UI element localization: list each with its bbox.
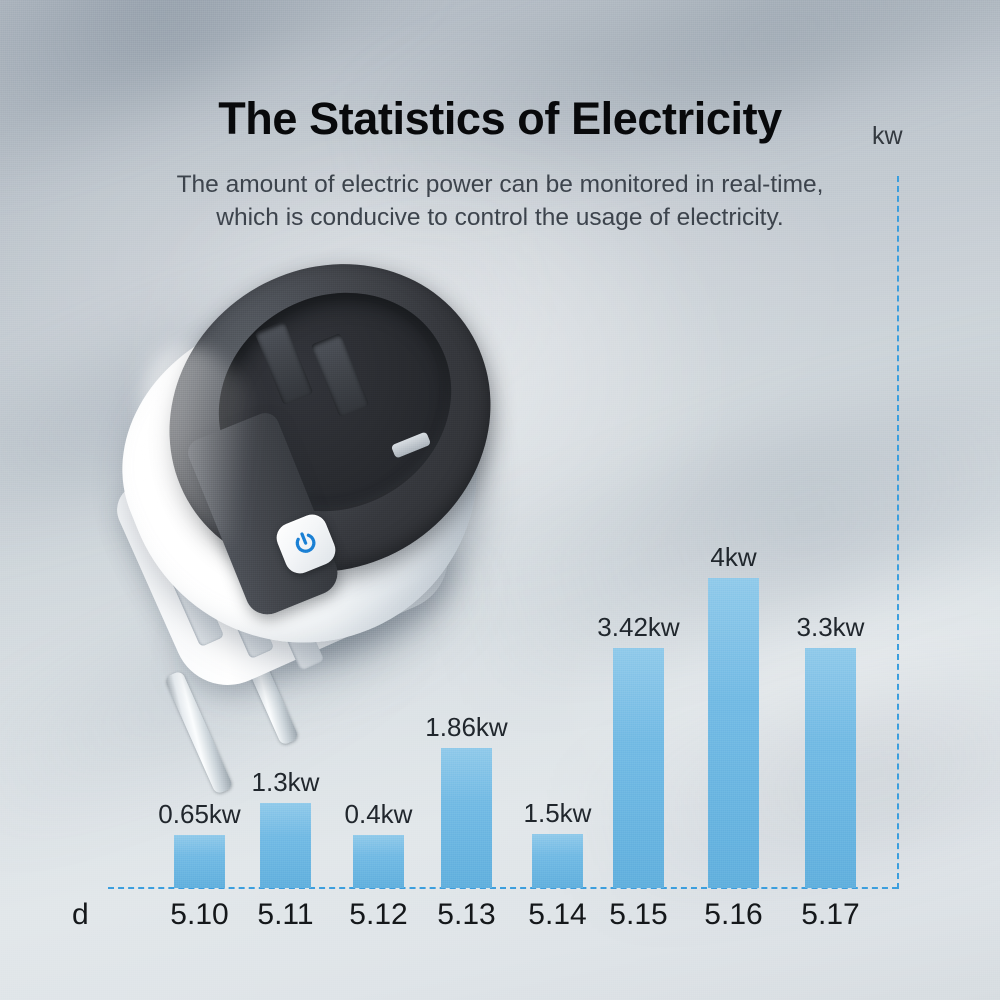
chart-x-tick-label: 5.17 <box>741 898 921 932</box>
poster-canvas: The Statistics of Electricity The amount… <box>0 0 1000 1000</box>
chart-bar <box>805 648 856 888</box>
chart-bar <box>613 648 664 888</box>
chart-bar <box>174 835 225 888</box>
electricity-bar-chart: kw d 0.65kw5.101.3kw5.110.4kw5.121.86kw5… <box>0 0 1000 1000</box>
chart-bar <box>532 834 583 888</box>
chart-bar-value-label: 4kw <box>644 542 824 573</box>
y-axis-label: kw <box>872 122 903 151</box>
chart-bar-value-label: 3.3kw <box>741 612 921 643</box>
chart-bar-value-label: 1.3kw <box>196 767 376 798</box>
chart-y-axis <box>897 176 899 889</box>
chart-x-axis <box>108 887 898 889</box>
chart-bar-value-label: 3.42kw <box>549 612 729 643</box>
x-axis-label: d <box>72 898 89 932</box>
chart-bar-value-label: 1.86kw <box>377 712 557 743</box>
chart-bar <box>353 835 404 888</box>
